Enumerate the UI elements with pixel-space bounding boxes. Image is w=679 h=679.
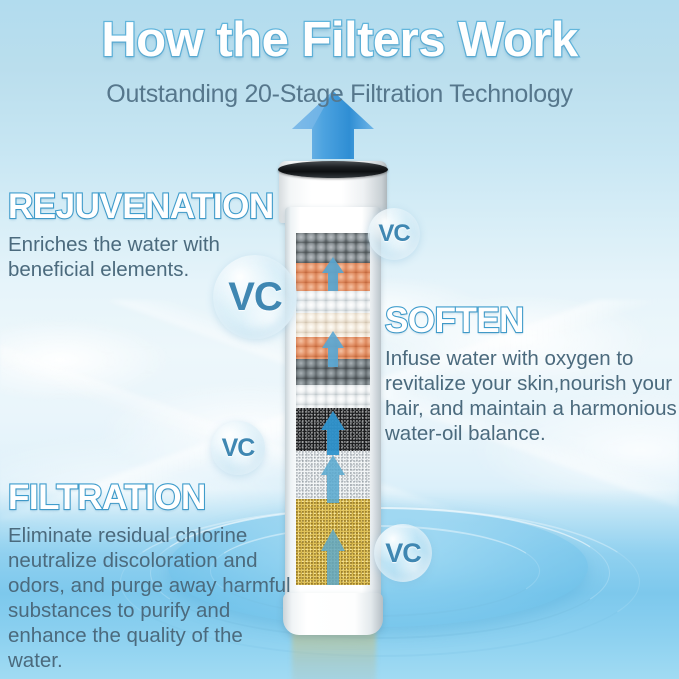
vc-bubble: VC	[374, 524, 432, 582]
layer-white-quartz-sand	[296, 451, 370, 499]
layer-orange-tourmaline-beads	[296, 337, 370, 359]
section-body-filtration: Eliminate residual chlorine neutralize d…	[8, 523, 300, 673]
section-filtration: FILTRATION Eliminate residual chlorine n…	[8, 480, 300, 673]
layer-white-alkaline-beads	[296, 385, 370, 408]
vc-bubble: VC	[211, 421, 265, 475]
layer-activated-carbon	[296, 408, 370, 451]
layer-white-mineral-beads	[296, 291, 370, 313]
cartridge-water-reflection	[292, 628, 376, 679]
vc-bubble: VC	[213, 255, 297, 339]
layer-dark-gray-beads	[296, 359, 370, 385]
section-title-filtration: FILTRATION	[8, 480, 300, 517]
section-soften: SOFTEN Infuse water with oxygen to revit…	[385, 303, 679, 446]
section-body-soften: Infuse water with oxygen to revitalize y…	[385, 346, 679, 446]
section-title-soften: SOFTEN	[385, 303, 679, 340]
layer-orange-ceramic-beads	[296, 263, 370, 291]
black-o-ring	[278, 161, 388, 178]
layer-gray-mineral-beads	[296, 233, 370, 263]
vc-bubble-label: VC	[385, 538, 421, 569]
layer-golden-ion-exchange-resin	[296, 499, 370, 585]
section-title-rejuvenation: REJUVENATION	[8, 189, 298, 226]
layer-cream-maifan-beads	[296, 313, 370, 337]
vc-bubble-label: VC	[222, 434, 255, 463]
vc-bubble-label: VC	[228, 275, 282, 320]
infographic-poster: How the Filters Work Outstanding 20-Stag…	[0, 0, 679, 679]
vc-bubble-label: VC	[378, 220, 409, 248]
page-subtitle: Outstanding 20-Stage Filtration Technolo…	[0, 80, 679, 109]
page-title: How the Filters Work	[0, 12, 679, 68]
filter-media-window	[296, 233, 370, 585]
vc-bubble: VC	[368, 208, 420, 260]
